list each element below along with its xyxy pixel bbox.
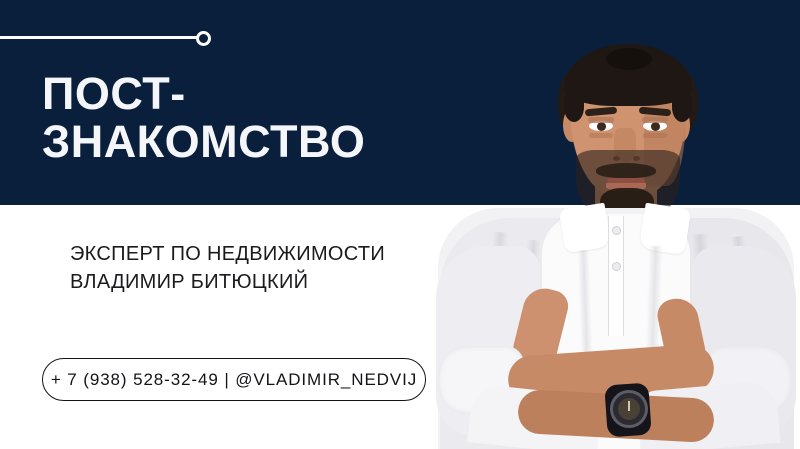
eyelid-right — [642, 117, 668, 123]
contact-text: + 7 (938) 528-32-49 | @VLADIMIR_NEDVIJ — [51, 370, 417, 390]
hair-highlight — [606, 48, 652, 70]
pupil-right — [651, 122, 660, 131]
temple-left — [564, 92, 584, 122]
watch-hand — [628, 401, 630, 411]
collar-left — [559, 203, 611, 254]
portrait-photo — [430, 0, 800, 449]
undereye-right — [643, 133, 667, 138]
pupil-left — [597, 122, 606, 131]
undereye-left — [589, 133, 613, 138]
contact-pill[interactable]: + 7 (938) 528-32-49 | @VLADIMIR_NEDVIJ — [42, 358, 426, 401]
moustache — [596, 163, 656, 178]
shirt-button-second — [612, 262, 621, 271]
shirt-button-top — [612, 226, 621, 235]
subtitle-expert-name: ЭКСПЕРТ ПО НЕДВИЖИМОСТИ ВЛАДИМИР БИТЮЦКИ… — [70, 240, 385, 296]
post-introduction-banner: ПОСТ- ЗНАКОМСТВО ЭКСПЕРТ ПО НЕДВИЖИМОСТИ… — [0, 0, 800, 449]
eyelid-left — [588, 117, 614, 123]
page-title: ПОСТ- ЗНАКОМСТВО — [42, 70, 365, 166]
collar-right — [639, 203, 692, 256]
temple-right — [672, 92, 692, 122]
photo-top-fade — [430, 0, 800, 14]
